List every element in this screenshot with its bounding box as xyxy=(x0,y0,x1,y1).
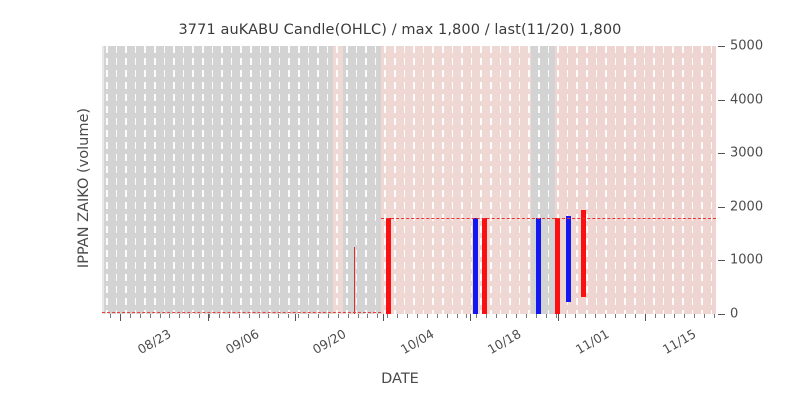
gridline-vertical xyxy=(442,46,444,314)
x-tick-minor xyxy=(110,314,111,318)
gridline-vertical xyxy=(183,46,185,314)
gridline-vertical xyxy=(461,46,463,314)
x-tick-minor xyxy=(585,314,586,318)
x-tick-minor xyxy=(437,314,438,318)
x-tick-minor xyxy=(476,314,477,318)
gridline-vertical xyxy=(269,46,271,314)
gridline-vertical xyxy=(192,46,194,314)
x-tick-minor xyxy=(506,314,507,318)
gridline-vertical xyxy=(615,46,617,314)
x-tick-label: 10/18 xyxy=(485,326,524,357)
gridline-vertical xyxy=(279,46,281,314)
x-tick-label: 10/04 xyxy=(397,326,436,357)
x-tick-minor xyxy=(684,314,685,318)
x-tick-label: 09/20 xyxy=(310,326,349,357)
gridline-vertical xyxy=(356,46,358,314)
gridline-vertical xyxy=(288,46,290,314)
x-tick-label: 08/23 xyxy=(135,326,174,357)
x-tick-major xyxy=(645,314,646,321)
x-tick-minor xyxy=(249,314,250,318)
y-tick-label: 2000 xyxy=(730,199,763,214)
x-tick-minor xyxy=(328,314,329,318)
gridline-vertical xyxy=(432,46,434,314)
x-tick-major xyxy=(383,314,384,321)
x-tick-major xyxy=(295,314,296,321)
gridline-vertical xyxy=(116,46,118,314)
gridline-vertical xyxy=(586,46,588,314)
gridline-vertical xyxy=(327,46,329,314)
x-tick-major xyxy=(558,314,559,321)
volume-bar-up xyxy=(386,218,392,314)
gridline-vertical xyxy=(624,46,626,314)
gridline-vertical xyxy=(164,46,166,314)
x-tick-minor xyxy=(526,314,527,318)
gridline-vertical xyxy=(653,46,655,314)
volume-bar-up xyxy=(581,210,586,297)
x-tick-label: 11/01 xyxy=(572,326,611,357)
gridline-vertical xyxy=(260,46,262,314)
gridline-vertical xyxy=(682,46,684,314)
x-tick-minor xyxy=(694,314,695,318)
gridline-vertical xyxy=(634,46,636,314)
volume-bar-down xyxy=(566,216,571,301)
y-axis-label: IPPAN ZAIKO (volume) xyxy=(76,58,92,318)
gridline-vertical xyxy=(711,46,713,314)
x-tick-minor xyxy=(229,314,230,318)
gridline-vertical xyxy=(605,46,607,314)
gridline-vertical xyxy=(519,46,521,314)
gridline-vertical xyxy=(221,46,223,314)
x-tick-minor xyxy=(358,314,359,318)
x-tick-minor xyxy=(209,314,210,318)
volume-bar-down xyxy=(473,218,478,314)
x-tick-minor xyxy=(189,314,190,318)
x-tick-minor xyxy=(704,314,705,318)
x-tick-minor xyxy=(140,314,141,318)
x-tick-minor xyxy=(417,314,418,318)
band-gray-3 xyxy=(531,46,555,314)
gridline-vertical xyxy=(135,46,137,314)
plot-area xyxy=(102,46,716,314)
x-tick-minor xyxy=(338,314,339,318)
gridline-vertical xyxy=(548,46,550,314)
gridline-vertical xyxy=(336,46,338,314)
x-tick-minor xyxy=(130,314,131,318)
gridline-vertical xyxy=(154,46,156,314)
x-tick-minor xyxy=(615,314,616,318)
x-tick-minor xyxy=(348,314,349,318)
gridline-vertical xyxy=(644,46,646,314)
gridline-vertical xyxy=(144,46,146,314)
gridline-vertical xyxy=(173,46,175,314)
x-tick-minor xyxy=(169,314,170,318)
x-tick-minor xyxy=(605,314,606,318)
gridline-vertical xyxy=(576,46,578,314)
x-tick-minor xyxy=(259,314,260,318)
gridline-vertical xyxy=(375,46,377,314)
x-tick-minor xyxy=(625,314,626,318)
volume-bar-up xyxy=(555,218,560,314)
x-tick-minor xyxy=(556,314,557,318)
gridline-vertical xyxy=(317,46,319,314)
x-tick-minor xyxy=(466,314,467,318)
x-tick-minor xyxy=(397,314,398,318)
x-tick-minor xyxy=(199,314,200,318)
x-tick-minor xyxy=(447,314,448,318)
gridline-vertical xyxy=(413,46,415,314)
gridline-vertical xyxy=(212,46,214,314)
x-tick-minor xyxy=(635,314,636,318)
x-tick-minor xyxy=(674,314,675,318)
x-tick-minor xyxy=(536,314,537,318)
x-tick-major xyxy=(120,314,121,321)
x-tick-major xyxy=(208,314,209,321)
x-tick-minor xyxy=(367,314,368,318)
x-tick-minor xyxy=(239,314,240,318)
gridline-vertical xyxy=(240,46,242,314)
gridline-vertical xyxy=(596,46,598,314)
x-tick-minor xyxy=(219,314,220,318)
y-tick-mark xyxy=(718,100,725,101)
y-tick-mark xyxy=(718,153,725,154)
y-tick-mark xyxy=(718,46,725,47)
x-tick-minor xyxy=(575,314,576,318)
gridline-vertical xyxy=(528,46,530,314)
y-tick-label: 3000 xyxy=(730,146,763,161)
gridline-vertical xyxy=(231,46,233,314)
x-tick-minor xyxy=(377,314,378,318)
gridline-vertical xyxy=(346,46,348,314)
y-tick-label: 0 xyxy=(730,307,738,322)
x-tick-minor xyxy=(387,314,388,318)
gridline-vertical xyxy=(452,46,454,314)
x-tick-minor xyxy=(595,314,596,318)
x-tick-minor xyxy=(308,314,309,318)
x-tick-minor xyxy=(150,314,151,318)
volume-bar-down xyxy=(536,218,541,314)
y-tick-label: 5000 xyxy=(730,39,763,54)
x-tick-minor xyxy=(288,314,289,318)
x-axis-ticks xyxy=(102,314,716,324)
x-tick-minor xyxy=(427,314,428,318)
baseline-zero-line xyxy=(102,312,381,313)
y-tick-mark xyxy=(718,260,725,261)
x-tick-minor xyxy=(516,314,517,318)
x-tick-minor xyxy=(714,314,715,318)
y-tick-label: 4000 xyxy=(730,92,763,107)
y-tick-mark xyxy=(718,314,725,315)
gridline-vertical xyxy=(509,46,511,314)
volume-bar-thin xyxy=(354,247,355,314)
x-tick-minor xyxy=(278,314,279,318)
x-axis-label: DATE xyxy=(0,371,800,387)
x-tick-minor xyxy=(298,314,299,318)
gridline-vertical xyxy=(490,46,492,314)
max-level-line xyxy=(381,218,716,219)
gridline-vertical xyxy=(404,46,406,314)
x-tick-minor xyxy=(179,314,180,318)
x-tick-minor xyxy=(565,314,566,318)
gridline-vertical xyxy=(298,46,300,314)
gridline-vertical xyxy=(423,46,425,314)
x-tick-minor xyxy=(546,314,547,318)
y-tick-mark xyxy=(718,207,725,208)
x-tick-minor xyxy=(318,314,319,318)
gridline-vertical xyxy=(202,46,204,314)
gridline-vertical xyxy=(692,46,694,314)
x-tick-label: 09/06 xyxy=(222,326,261,357)
x-tick-minor xyxy=(655,314,656,318)
x-tick-minor xyxy=(486,314,487,318)
gridline-vertical xyxy=(125,46,127,314)
y-tick-label: 1000 xyxy=(730,253,763,268)
gridline-vertical xyxy=(365,46,367,314)
x-tick-minor xyxy=(664,314,665,318)
chart-title: 3771 auKABU Candle(OHLC) / max 1,800 / l… xyxy=(0,22,800,38)
volume-bar-up xyxy=(482,218,487,314)
x-tick-minor xyxy=(407,314,408,318)
x-tick-minor xyxy=(160,314,161,318)
gridline-vertical xyxy=(701,46,703,314)
x-tick-major xyxy=(470,314,471,321)
x-tick-minor xyxy=(457,314,458,318)
gridline-vertical xyxy=(106,46,108,314)
gridline-vertical xyxy=(394,46,396,314)
gridline-vertical xyxy=(308,46,310,314)
gridline-vertical xyxy=(500,46,502,314)
gridline-vertical xyxy=(672,46,674,314)
x-tick-minor xyxy=(268,314,269,318)
gridline-vertical xyxy=(663,46,665,314)
chart-figure: 3771 auKABU Candle(OHLC) / max 1,800 / l… xyxy=(0,0,800,400)
x-tick-minor xyxy=(496,314,497,318)
gridline-vertical xyxy=(250,46,252,314)
x-tick-label: 11/15 xyxy=(660,326,699,357)
